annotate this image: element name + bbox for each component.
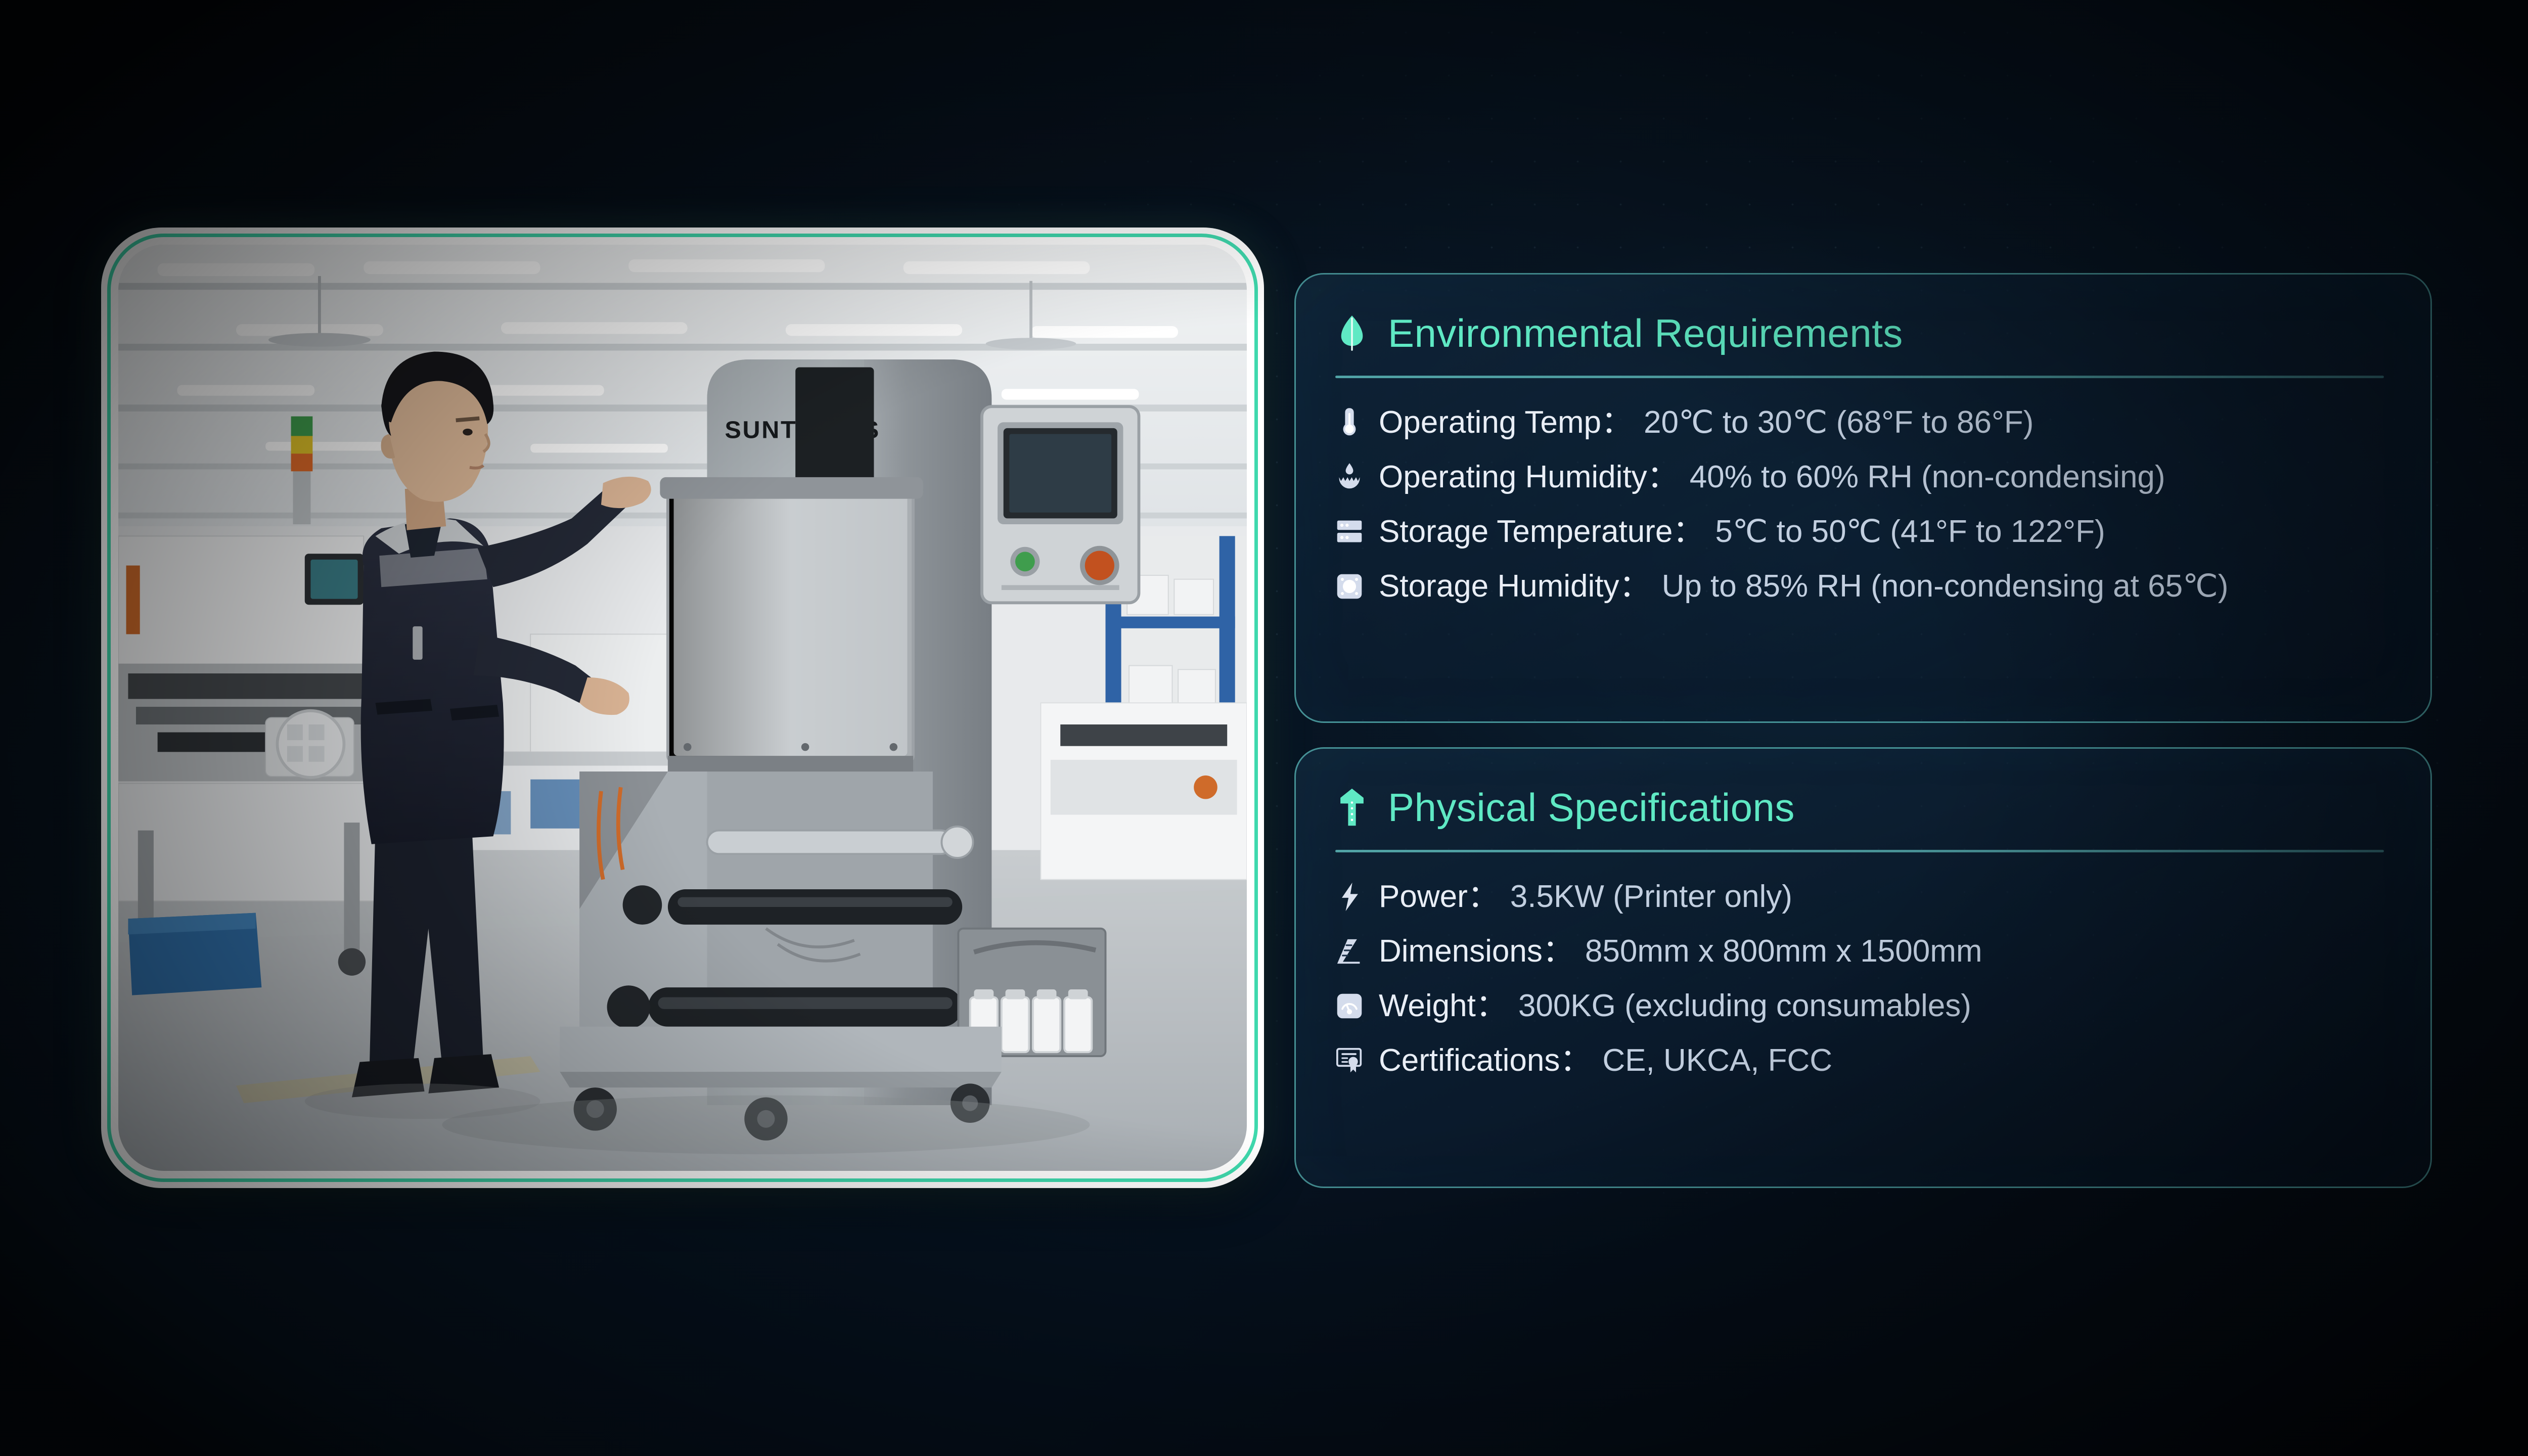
server-rack-icon [1331, 514, 1368, 550]
spec-value: 3.5KW (Printer only) [1510, 879, 1792, 914]
spec-label: Certifications [1379, 1043, 1560, 1078]
spec-row-text: Power：3.5KW (Printer only) [1379, 881, 1792, 913]
spec-row-weight: Weight：300KG (excluding consumables) [1331, 984, 2395, 1028]
product-photo: SUNTHINKS [118, 245, 1247, 1171]
lightning-bolt-icon [1331, 879, 1368, 915]
spec-row-operating-temp: Operating Temp：20℃ to 30℃ (68°F to 86°F) [1331, 400, 2395, 445]
spec-row-certifications: Certifications：CE, UKCA, FCC [1331, 1038, 2395, 1083]
spec-value: 20℃ to 30℃ (68°F to 86°F) [1644, 405, 2034, 440]
spec-value: Up to 85% RH (non-condensing at 65℃) [1662, 569, 2229, 604]
spec-row-dimensions: Dimensions：850mm x 800mm x 1500mm [1331, 929, 2395, 974]
spec-value: 40% to 60% RH (non-condensing) [1690, 460, 2165, 494]
spec-row-power: Power：3.5KW (Printer only) [1331, 875, 2395, 919]
card-divider [1335, 850, 2384, 852]
spec-colon: ： [1476, 988, 1507, 1023]
leaf-icon [1331, 310, 1373, 356]
spec-row-text: Storage Humidity：Up to 85% RH (non-conde… [1379, 571, 2228, 602]
product-photo-panel: SUNTHINKS [101, 227, 1264, 1188]
spec-colon: ： [1673, 514, 1704, 549]
spec-colon: ： [1468, 879, 1499, 914]
spec-row-text: Certifications：CE, UKCA, FCC [1379, 1045, 1832, 1076]
spec-value: 850mm x 800mm x 1500mm [1585, 934, 1982, 969]
spec-row-text: Storage Temperature：5℃ to 50℃ (41°F to 1… [1379, 516, 2105, 548]
spec-value: 300KG (excluding consumables) [1518, 988, 1971, 1023]
card-title: Environmental Requirements [1388, 313, 1903, 353]
card-header: Physical Specifications [1331, 777, 2395, 838]
spec-label: Storage Temperature [1379, 514, 1673, 549]
certificate-icon [1331, 1042, 1368, 1079]
spec-value: CE, UKCA, FCC [1602, 1043, 1832, 1078]
spec-label: Operating Humidity [1379, 460, 1647, 494]
set-square-icon [1331, 933, 1368, 970]
spec-label: Operating Temp [1379, 405, 1601, 440]
card-title: Physical Specifications [1388, 788, 1795, 827]
spec-rows: Power：3.5KW (Printer only) Dimensions：85… [1331, 875, 2395, 1083]
spec-row-text: Operating Humidity：40% to 60% RH (non-co… [1379, 462, 2165, 493]
card-divider [1335, 376, 2384, 378]
spec-row-text: Operating Temp：20℃ to 30℃ (68°F to 86°F) [1379, 407, 2034, 438]
spec-colon: ： [1601, 405, 1633, 440]
factory-scene-illustration: SUNTHINKS [118, 245, 1247, 1171]
spec-label: Storage Humidity [1379, 569, 1619, 604]
spec-rows: Operating Temp：20℃ to 30℃ (68°F to 86°F)… [1331, 400, 2395, 609]
thermometer-icon [1331, 404, 1368, 441]
ruler-icon [1331, 784, 1373, 831]
weight-gauge-icon [1331, 988, 1368, 1024]
spec-label: Power [1379, 879, 1468, 914]
storage-drop-icon [1331, 568, 1368, 605]
slide-root: SUNTHINKS [0, 0, 2528, 1456]
physical-specifications-card: Physical Specifications Power：3.5KW (Pri… [1294, 747, 2432, 1188]
spec-row-operating-humidity: Operating Humidity：40% to 60% RH (non-co… [1331, 455, 2395, 499]
spec-value: 5℃ to 50℃ (41°F to 122°F) [1715, 514, 2105, 549]
environmental-requirements-card: Environmental Requirements Operating Tem… [1294, 273, 2432, 723]
spec-row-storage-temperature: Storage Temperature：5℃ to 50℃ (41°F to 1… [1331, 510, 2395, 554]
spec-label: Weight [1379, 988, 1476, 1023]
spec-colon: ： [1619, 569, 1651, 604]
spec-label: Dimensions [1379, 934, 1543, 969]
humidity-icon [1331, 459, 1368, 495]
spec-colon: ： [1560, 1043, 1591, 1078]
card-header: Environmental Requirements [1331, 303, 2395, 363]
spec-row-text: Weight：300KG (excluding consumables) [1379, 990, 1971, 1022]
spec-colon: ： [1647, 460, 1679, 494]
spec-colon: ： [1543, 934, 1574, 969]
spec-row-text: Dimensions：850mm x 800mm x 1500mm [1379, 936, 1982, 967]
spec-row-storage-humidity: Storage Humidity：Up to 85% RH (non-conde… [1331, 564, 2395, 609]
